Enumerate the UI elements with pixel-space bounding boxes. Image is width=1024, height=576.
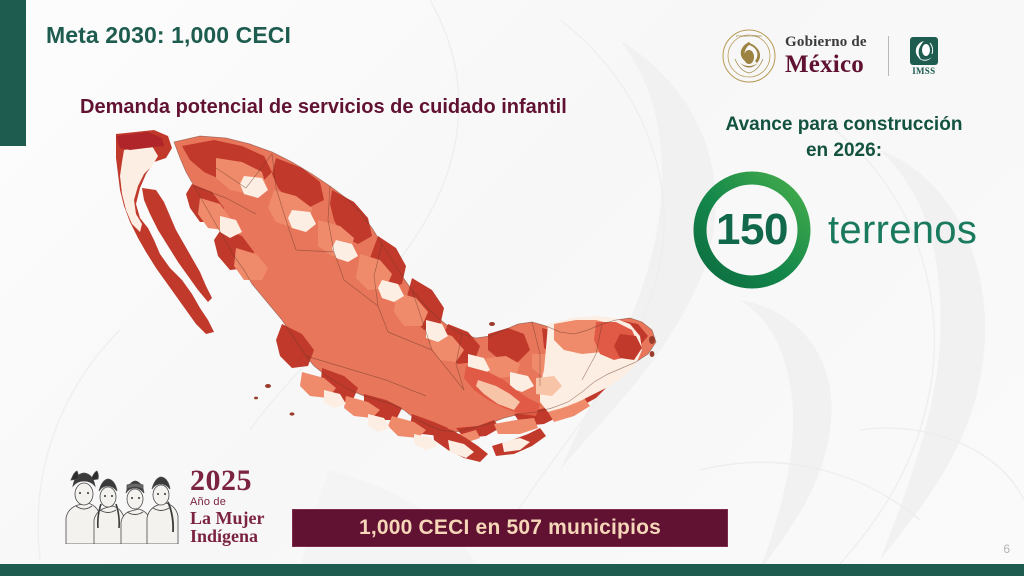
page-number: 6: [1003, 542, 1010, 556]
logo-divider: [888, 36, 889, 76]
four-indigenous-women-illustration: [60, 466, 180, 544]
kpi-heading: Avance para construcción en 2026:: [672, 112, 1016, 163]
kpi-heading-line2: en 2026:: [672, 138, 1016, 164]
imss-logo: IMSS: [910, 37, 938, 76]
map-region-mainland: [174, 136, 656, 462]
year-label: 2025: [190, 466, 264, 496]
progress-ring: 150: [690, 168, 814, 292]
left-accent-bar: [0, 0, 26, 146]
page-title: Meta 2030: 1,000 CECI: [46, 22, 291, 49]
slide-canvas: Meta 2030: 1,000 CECI ESTADOS UNIDOS: [0, 0, 1024, 576]
imss-wordmark: IMSS: [912, 66, 935, 76]
mexico-label: México: [785, 52, 867, 77]
mexican-eagle-seal-icon: ESTADOS UNIDOS: [722, 29, 776, 83]
map-svg: [96, 128, 666, 478]
year-2025-logo: 2025 Año de La Mujer Indígena: [60, 462, 264, 548]
gobierno-de-mexico-logo: ESTADOS UNIDOS Gobierno de México IMSS: [722, 28, 938, 84]
kpi-row: 150 terrenos: [672, 168, 1024, 292]
kpi-heading-line1: Avance para construcción: [672, 112, 1016, 138]
svg-text:ESTADOS UNIDOS: ESTADOS UNIDOS: [736, 34, 762, 38]
indigena-label: Indígena: [190, 527, 264, 545]
bottom-accent-bar: [0, 564, 1024, 576]
gobierno-label: Gobierno de: [785, 35, 867, 50]
map-title: Demanda potencial de servicios de cuidad…: [80, 96, 567, 119]
la-mujer-label: La Mujer: [190, 509, 264, 527]
summary-banner-text: 1,000 CECI en 507 municipios: [359, 516, 661, 540]
imss-eagle-icon: [910, 37, 938, 65]
kpi-value: 150: [690, 168, 814, 292]
kpi-unit-label: terrenos: [828, 208, 977, 253]
mexico-choropleth-map: [96, 128, 666, 478]
ano-de-label: Año de: [190, 497, 264, 508]
summary-banner: 1,000 CECI en 507 municipios: [292, 509, 728, 547]
